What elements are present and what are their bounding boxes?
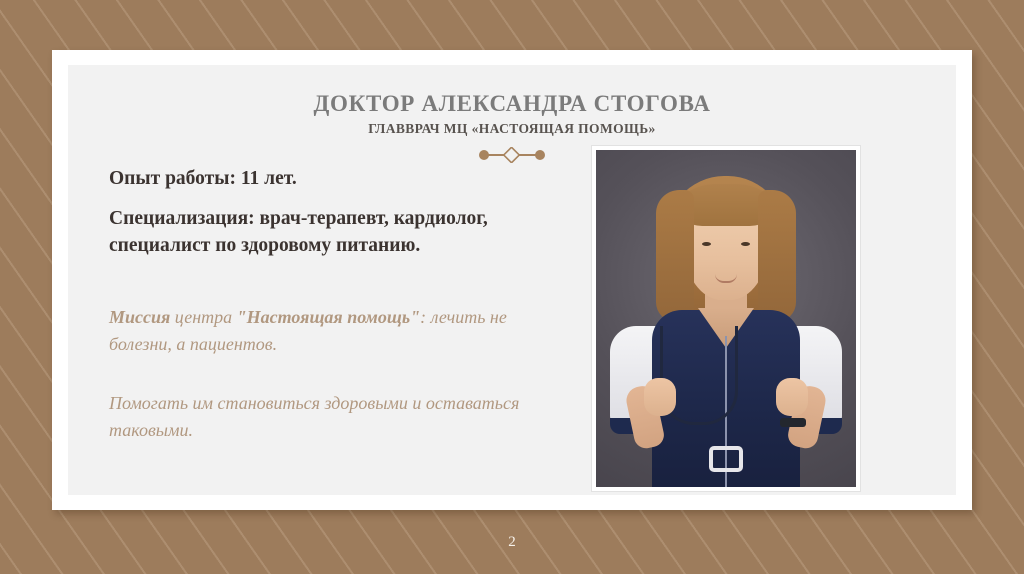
text-column: Опыт работы: 11 лет. Специализация: врач…	[109, 165, 529, 444]
fact-specialization: Специализация: врач-терапевт, кардиолог,…	[109, 205, 529, 260]
content-panel: ДОКТОР АЛЕКСАНДРА СТОГОВА ГЛАВВРАЧ МЦ «Н…	[68, 65, 956, 495]
mission-mid: центра	[170, 307, 236, 327]
mission-statement: Миссия центра "Настоящая помощь": лечить…	[109, 304, 529, 358]
page-number: 2	[0, 534, 1024, 551]
mission-quoted: "Настоящая помощь"	[237, 307, 420, 327]
doctor-portrait-photo	[591, 145, 861, 492]
portrait-image	[596, 150, 856, 487]
slide: ДОКТОР АЛЕКСАНДРА СТОГОВА ГЛАВВРАЧ МЦ «Н…	[0, 0, 1024, 574]
mission-closing: Помогать им становиться здоровыми и оста…	[109, 390, 529, 444]
fact-experience: Опыт работы: 11 лет.	[109, 165, 529, 193]
slide-frame: ДОКТОР АЛЕКСАНДРА СТОГОВА ГЛАВВРАЧ МЦ «Н…	[52, 50, 972, 510]
mission-lead: Миссия	[109, 307, 170, 327]
page-subtitle: ГЛАВВРАЧ МЦ «НАСТОЯЩАЯ ПОМОЩЬ»	[68, 122, 956, 137]
diamond-divider-ornament	[474, 147, 550, 163]
page-title: ДОКТОР АЛЕКСАНДРА СТОГОВА	[68, 91, 956, 116]
